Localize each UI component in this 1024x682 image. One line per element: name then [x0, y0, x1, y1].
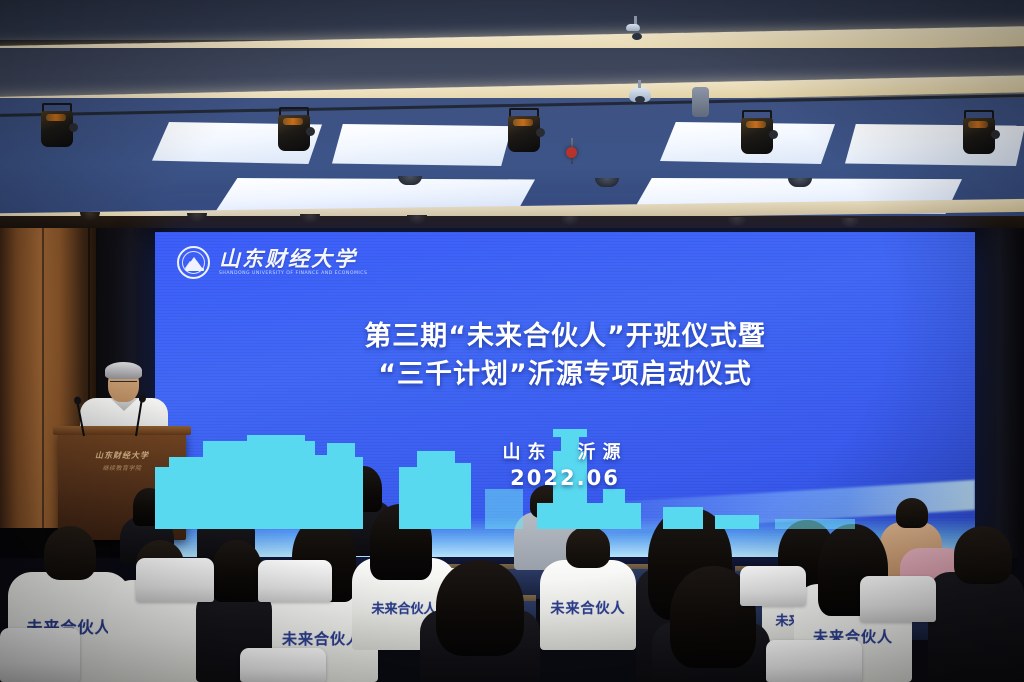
university-logo: 山东财经大学 SHANDONG UNIVERSITY OF FINANCE AN…: [177, 246, 367, 279]
stage-spotlight: [507, 108, 541, 152]
audience-chair: [740, 566, 806, 606]
slide-title-line2: “三千计划”沂源专项启动仪式: [155, 356, 975, 394]
slide-subtitle: 山东 沂源 2022.06: [155, 438, 975, 490]
audience-chair: [258, 560, 332, 602]
slide-location: 山东 沂源: [155, 438, 975, 464]
slide-title: 第三期“未来合伙人”开班仪式暨 “三千计划”沂源专项启动仪式: [155, 318, 975, 395]
ceiling: [0, 0, 1024, 228]
audience-chair: [0, 628, 80, 682]
person-hair: [954, 526, 1012, 584]
slide-date: 2022.06: [155, 466, 975, 490]
university-name-en: SHANDONG UNIVERSITY OF FINANCE AND ECONO…: [219, 272, 367, 277]
audience-chair: [136, 558, 214, 602]
slide-title-line1: 第三期“未来合伙人”开班仪式暨: [155, 318, 975, 356]
ceiling-light-panel: [332, 124, 512, 166]
audience-chair: [766, 640, 862, 682]
person-hair: [212, 540, 262, 602]
stage-spotlight: [740, 110, 774, 154]
audience-chair: [240, 648, 326, 682]
person-torso: 未来合伙人: [540, 560, 636, 650]
stage-spotlight: [40, 103, 74, 147]
stage-spotlight: [962, 110, 996, 154]
ceiling-fascia: [0, 216, 1024, 228]
security-camera-icon: [629, 87, 651, 102]
stage-curtain-right: [975, 228, 1024, 558]
audience-chair: [860, 576, 936, 622]
person-hair: [44, 526, 96, 580]
led-presentation-screen: 山东财经大学 SHANDONG UNIVERSITY OF FINANCE AN…: [155, 232, 975, 557]
wood-panel-seam: [42, 228, 44, 528]
camera-mount: [638, 80, 641, 88]
person-hair: [566, 526, 610, 568]
person-hair: [436, 560, 524, 656]
person-torso: [928, 572, 1024, 682]
ceiling-sensor-icon: [626, 24, 640, 31]
fire-sprinkler-icon: [566, 147, 577, 158]
shirt-label: 未来合伙人: [540, 598, 636, 618]
university-crest-icon: [177, 246, 210, 279]
stage-spotlight: [277, 107, 311, 151]
university-name-cn: 山东财经大学: [219, 248, 367, 269]
speaker-glasses: [110, 381, 137, 387]
conference-hall-photo: 山东财经大学 SHANDONG UNIVERSITY OF FINANCE AN…: [0, 0, 1024, 682]
ceiling-speaker-icon: [692, 87, 709, 117]
speaker-hair: [105, 362, 142, 379]
